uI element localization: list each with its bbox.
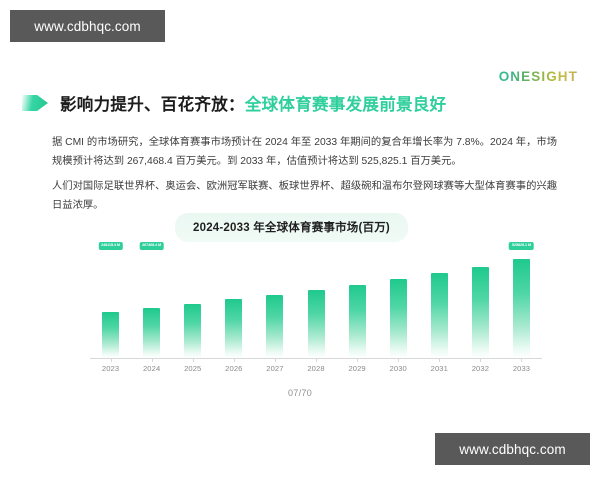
bar-slot	[254, 253, 295, 358]
bar-slot	[337, 253, 378, 358]
x-axis-tick	[90, 358, 131, 362]
bar-value-label: 525825.1 M	[509, 242, 534, 250]
heading-accent: 全球体育赛事发展前景良好	[245, 96, 447, 114]
body-paragraph-2: 人们对国际足联世界杯、奥运会、欧洲冠军联赛、板球世界杯、超级碗和温布尔登网球赛等…	[52, 177, 557, 215]
x-axis-ticks	[90, 358, 542, 362]
page-number: 07/70	[0, 388, 600, 398]
slide-heading: 影响力提升、百花齐放：全球体育赛事发展前景良好	[22, 91, 446, 115]
chart-bar	[225, 299, 242, 358]
x-axis-tick-label: 2029	[337, 364, 378, 373]
x-axis-tick-label: 2030	[378, 364, 419, 373]
chart-title: 2024-2033 年全球体育赛事市场(百万)	[175, 213, 408, 242]
chart-bar	[349, 285, 366, 359]
bar-slot: 525825.1 M	[501, 253, 542, 358]
chevron-right-icon	[22, 94, 48, 113]
bar-slot	[295, 253, 336, 358]
x-axis-tick	[337, 358, 378, 362]
bar-slot	[172, 253, 213, 358]
x-axis-tick	[419, 358, 460, 362]
chart-plot-area: 248115.4 M267468.4 M525825.1 M	[90, 253, 542, 358]
page-title: 影响力提升、百花齐放：全球体育赛事发展前景良好	[60, 91, 446, 115]
bar-slot: 267468.4 M	[131, 253, 172, 358]
slide-canvas: www.cdbhqc.com ONESIGHT 影响力提升、百花齐放：全球体育赛…	[0, 0, 600, 480]
chart-bar	[472, 267, 489, 358]
x-axis-tick	[131, 358, 172, 362]
x-axis-tick	[295, 358, 336, 362]
onesight-logo: ONESIGHT	[499, 69, 578, 84]
x-axis-tick	[501, 358, 542, 362]
bar-slot	[213, 253, 254, 358]
x-axis-tick	[460, 358, 501, 362]
bar-slot	[460, 253, 501, 358]
bar-slot: 248115.4 M	[90, 253, 131, 358]
bar-value-label: 267468.4 M	[139, 242, 164, 250]
x-axis-tick-label: 2023	[90, 364, 131, 373]
chart-bar	[308, 290, 325, 358]
x-axis-tick-label: 2033	[501, 364, 542, 373]
x-axis-tick-label: 2028	[295, 364, 336, 373]
x-axis-tick-label: 2025	[172, 364, 213, 373]
chart-bar	[390, 279, 407, 358]
bar-value-label: 248115.4 M	[98, 242, 122, 250]
bar-slot	[378, 253, 419, 358]
x-axis-labels: 2023202420252026202720282029203020312032…	[90, 364, 542, 373]
heading-prefix: 影响力提升、百花齐放：	[60, 96, 245, 114]
presentation-slide: ONESIGHT 影响力提升、百花齐放：全球体育赛事发展前景良好 据 CMI 的…	[0, 55, 600, 415]
body-paragraph-1: 据 CMI 的市场研究，全球体育赛事市场预计在 2024 年至 2033 年期间…	[52, 133, 557, 171]
watermark-top: www.cdbhqc.com	[10, 10, 165, 42]
chart-bar: 525825.1 M	[513, 259, 530, 358]
x-axis-tick	[254, 358, 295, 362]
chart-bar	[266, 295, 283, 358]
x-axis-tick-label: 2026	[213, 364, 254, 373]
chart-bar	[431, 273, 448, 358]
bar-slot	[419, 253, 460, 358]
chart-bar	[184, 304, 201, 358]
x-axis-tick	[172, 358, 213, 362]
market-forecast-chart: 2024-2033 年全球体育赛事市场(百万) 248115.4 M267468…	[40, 213, 560, 378]
x-axis-tick-label: 2024	[131, 364, 172, 373]
chart-bar: 267468.4 M	[143, 308, 160, 358]
x-axis-tick-label: 2027	[254, 364, 295, 373]
bar-series: 248115.4 M267468.4 M525825.1 M	[90, 253, 542, 358]
watermark-bottom: www.cdbhqc.com	[435, 433, 590, 465]
x-axis-tick	[213, 358, 254, 362]
chart-bar: 248115.4 M	[102, 312, 119, 358]
x-axis-tick	[378, 358, 419, 362]
x-axis-tick-label: 2032	[460, 364, 501, 373]
x-axis-tick-label: 2031	[419, 364, 460, 373]
